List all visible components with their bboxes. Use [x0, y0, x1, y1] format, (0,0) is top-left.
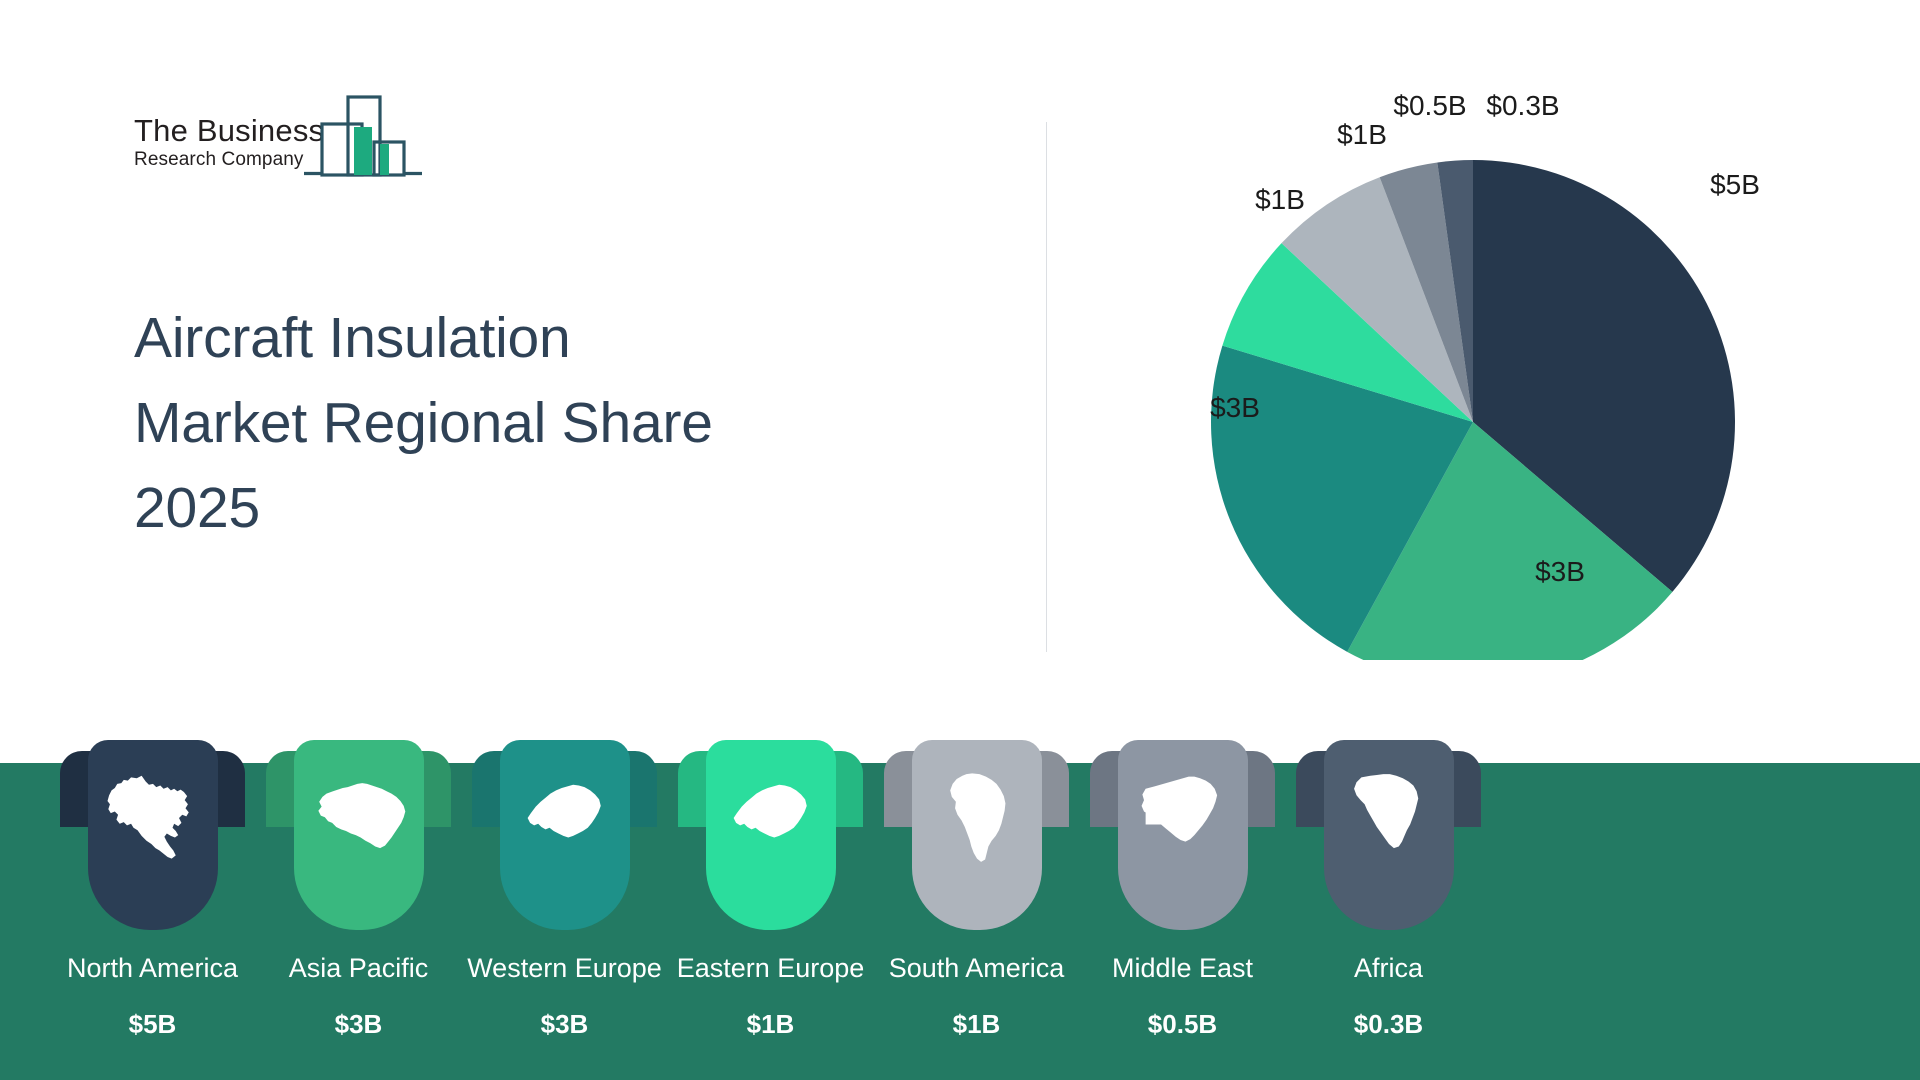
pie-value-label-6: $0.5B: [1393, 90, 1466, 122]
region-name-africa: Africa: [1246, 955, 1531, 982]
pie-chart-svg: [1140, 120, 1840, 660]
region-pill-body-africa: [1324, 740, 1454, 930]
regional-share-pie-chart: $5B$3B$3B$1B$1B$0.5B$0.3B: [1140, 120, 1840, 660]
logo-line-1: The Business: [134, 115, 309, 146]
vertical-divider: [1046, 122, 1047, 652]
eastern-europe-map-icon: [719, 766, 823, 870]
region-pill-body-middle-east: [1118, 740, 1248, 930]
africa-map-icon: [1337, 766, 1441, 870]
north-america-map-icon: [101, 766, 205, 870]
region-value-africa: $0.3B: [1246, 1011, 1531, 1037]
pie-value-label-4: $1B: [1255, 184, 1305, 216]
region-pill-body-asia-pacific: [294, 740, 424, 930]
south-america-map-icon: [925, 766, 1029, 870]
logo-bar-chart-icon: [302, 93, 424, 181]
logo-wordmark: The Business Research Company: [134, 115, 309, 169]
logo-line-2: Research Company: [134, 150, 309, 169]
region-pill-africa[interactable]: Africa$0.3B: [1296, 763, 1546, 1080]
page-title-line-2: Market Regional Share: [134, 381, 954, 466]
pie-value-label-2: $3B: [1535, 556, 1585, 588]
pie-value-label-3: $3B: [1210, 392, 1260, 424]
pie-value-label-5: $1B: [1337, 119, 1387, 151]
page-title: Aircraft Insulation Market Regional Shar…: [134, 296, 954, 551]
region-pill-body-western-europe: [500, 740, 630, 930]
pie-value-label-7: $0.3B: [1486, 90, 1559, 122]
region-pill-body-south-america: [912, 740, 1042, 930]
company-logo: The Business Research Company: [134, 95, 424, 185]
page-title-line-3: 2025: [134, 466, 954, 551]
pie-value-label-1: $5B: [1710, 169, 1760, 201]
infographic-canvas: The Business Research Company Aircraft I…: [0, 0, 1920, 1080]
region-pill-list: North America$5BAsia Pacific$3BWestern E…: [0, 763, 1920, 1080]
asia-pacific-map-icon: [307, 766, 411, 870]
region-pill-body-eastern-europe: [706, 740, 836, 930]
region-pill-body-north-america: [88, 740, 218, 930]
middle-east-map-icon: [1131, 766, 1235, 870]
regions-banner: North America$5BAsia Pacific$3BWestern E…: [0, 763, 1920, 1080]
western-europe-map-icon: [513, 766, 617, 870]
page-title-line-1: Aircraft Insulation: [134, 296, 954, 381]
